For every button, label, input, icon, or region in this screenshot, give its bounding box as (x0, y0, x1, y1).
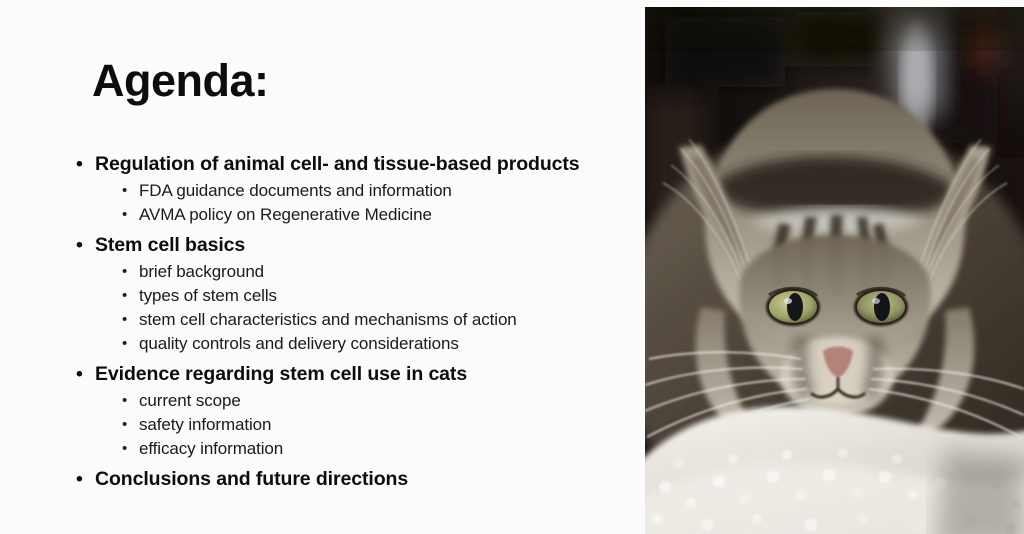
bullet-icon: • (122, 437, 127, 461)
bullet-icon: • (122, 389, 127, 413)
outline-item-level2: • FDA guidance documents and information (118, 179, 632, 203)
outline-sublist: • current scope • safety information • e… (72, 389, 632, 461)
outline-item-level2-label: current scope (139, 391, 241, 410)
outline-item-level1-label: Regulation of animal cell- and tissue-ba… (95, 153, 580, 175)
bullet-icon: • (76, 360, 83, 389)
bullet-icon: • (122, 284, 127, 308)
outline-group: • Regulation of animal cell- and tissue-… (72, 150, 632, 227)
bullet-icon: • (122, 413, 127, 437)
agenda-outline-list: • Regulation of animal cell- and tissue-… (72, 150, 632, 494)
outline-item-level2: • AVMA policy on Regenerative Medicine (118, 203, 632, 227)
bullet-icon: • (122, 179, 127, 203)
outline-item-level2: • quality controls and delivery consider… (118, 332, 632, 356)
outline-group: • Stem cell basics • brief background • … (72, 231, 632, 356)
slide-content-column: Agenda: • Regulation of animal cell- and… (0, 0, 645, 534)
bullet-icon: • (122, 308, 127, 332)
outline-item-level1-label: Stem cell basics (95, 234, 245, 256)
outline-item-level2-label: AVMA policy on Regenerative Medicine (139, 205, 432, 224)
outline-sublist: • FDA guidance documents and information… (72, 179, 632, 227)
presentation-slide: Agenda: • Regulation of animal cell- and… (0, 0, 1024, 534)
outline-item-level2: • safety information (118, 413, 632, 437)
outline-sublist: • brief background • types of stem cells… (72, 260, 632, 356)
outline-item-level2-label: types of stem cells (139, 286, 277, 305)
outline-item-level2: • efficacy information (118, 437, 632, 461)
outline-item-level2-label: brief background (139, 262, 264, 281)
outline-group: • Conclusions and future directions (72, 465, 632, 494)
outline-item-level2-label: FDA guidance documents and information (139, 181, 452, 200)
bullet-icon: • (76, 231, 83, 260)
bullet-icon: • (76, 150, 83, 179)
outline-item-level1: • Conclusions and future directions (72, 465, 632, 494)
outline-item-level1-label: Conclusions and future directions (95, 468, 408, 490)
outline-item-level2: • stem cell characteristics and mechanis… (118, 308, 632, 332)
outline-item-level2-label: stem cell characteristics and mechanisms… (139, 310, 517, 329)
outline-item-level1-label: Evidence regarding stem cell use in cats (95, 363, 467, 385)
bullet-icon: • (122, 203, 127, 227)
outline-item-level2-label: quality controls and delivery considerat… (139, 334, 459, 353)
outline-group: • Evidence regarding stem cell use in ca… (72, 360, 632, 461)
page-title: Agenda: (92, 58, 269, 103)
outline-item-level2: • types of stem cells (118, 284, 632, 308)
cat-photo (645, 7, 1024, 534)
outline-item-level2-label: safety information (139, 415, 271, 434)
outline-item-level2: • brief background (118, 260, 632, 284)
outline-item-level1: • Evidence regarding stem cell use in ca… (72, 360, 632, 389)
outline-item-level2-label: efficacy information (139, 439, 283, 458)
bullet-icon: • (122, 260, 127, 284)
outline-item-level1: • Regulation of animal cell- and tissue-… (72, 150, 632, 179)
outline-item-level1: • Stem cell basics (72, 231, 632, 260)
bullet-icon: • (122, 332, 127, 356)
outline-item-level2: • current scope (118, 389, 632, 413)
bullet-icon: • (76, 465, 83, 494)
